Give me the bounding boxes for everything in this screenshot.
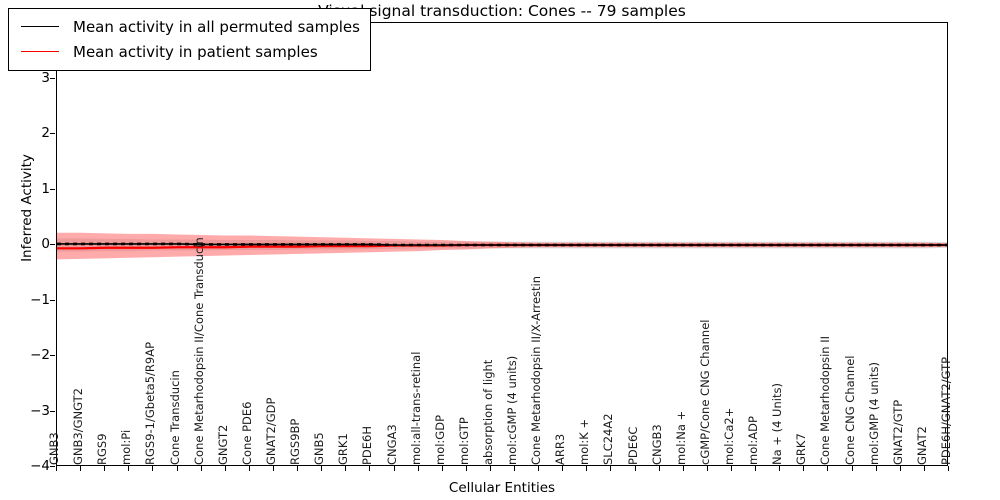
- y-tick-mark: [50, 466, 55, 467]
- legend-entry: Mean activity in patient samples: [17, 39, 360, 64]
- x-tick-mark: [827, 466, 828, 471]
- y-tick-label: 3: [4, 70, 50, 86]
- x-tick-mark: [779, 466, 780, 471]
- x-tick-mark: [369, 466, 370, 471]
- y-tick-mark: [50, 300, 55, 301]
- y-tick-mark: [50, 189, 55, 190]
- y-tick-mark: [50, 244, 55, 245]
- x-tick-mark: [104, 466, 105, 471]
- series-confidence-band: [57, 233, 948, 260]
- plot-area: [56, 22, 948, 466]
- y-tick-mark: [50, 411, 55, 412]
- x-tick-mark: [273, 466, 274, 471]
- chart-legend: Mean activity in all permuted samples Me…: [8, 8, 371, 71]
- x-tick-mark: [514, 466, 515, 471]
- x-tick-mark: [177, 466, 178, 471]
- y-tick-label: 0: [4, 236, 50, 252]
- y-tick-label: 1: [4, 181, 50, 197]
- x-tick-mark: [755, 466, 756, 471]
- x-tick-mark: [876, 466, 877, 471]
- x-axis-label: Cellular Entities: [56, 480, 948, 496]
- legend-label-patient: Mean activity in patient samples: [73, 43, 318, 61]
- x-tick-mark: [683, 466, 684, 471]
- x-tick-mark: [442, 466, 443, 471]
- y-tick-label: 2: [4, 125, 50, 141]
- x-tick-mark: [538, 466, 539, 471]
- chart-figure: Visual signal transduction: Cones -- 79 …: [0, 0, 1000, 500]
- x-tick-mark: [731, 466, 732, 471]
- legend-swatch-permuted: [21, 26, 59, 27]
- x-tick-mark: [635, 466, 636, 471]
- x-tick-mark: [345, 466, 346, 471]
- x-tick-mark: [610, 466, 611, 471]
- y-tick-mark: [50, 78, 55, 79]
- x-tick-mark: [249, 466, 250, 471]
- x-tick-mark: [297, 466, 298, 471]
- x-tick-mark: [490, 466, 491, 471]
- x-tick-mark: [152, 466, 153, 471]
- x-tick-mark: [852, 466, 853, 471]
- data-series-layer: [57, 23, 948, 466]
- y-tick-label: −1: [4, 292, 50, 308]
- x-tick-mark: [225, 466, 226, 471]
- x-tick-mark: [900, 466, 901, 471]
- y-tick-mark: [50, 355, 55, 356]
- x-tick-mark: [659, 466, 660, 471]
- x-tick-mark: [586, 466, 587, 471]
- legend-label-permuted: Mean activity in all permuted samples: [73, 18, 360, 36]
- y-tick-label: −4: [4, 458, 50, 474]
- legend-entry: Mean activity in all permuted samples: [17, 14, 360, 39]
- y-axis-ticks: −4−3−2−101234: [0, 22, 50, 466]
- x-tick-mark: [418, 466, 419, 471]
- y-tick-label: −3: [4, 403, 50, 419]
- legend-swatch-patient: [21, 51, 59, 52]
- x-tick-mark: [394, 466, 395, 471]
- x-tick-mark: [948, 466, 949, 471]
- x-tick-mark: [707, 466, 708, 471]
- y-tick-label: −2: [4, 347, 50, 363]
- x-tick-mark: [56, 466, 57, 471]
- x-tick-mark: [128, 466, 129, 471]
- x-tick-mark: [321, 466, 322, 471]
- y-tick-mark: [50, 133, 55, 134]
- x-tick-mark: [80, 466, 81, 471]
- x-tick-mark: [466, 466, 467, 471]
- x-tick-mark: [924, 466, 925, 471]
- x-tick-mark: [803, 466, 804, 471]
- x-tick-mark: [201, 466, 202, 471]
- x-tick-mark: [562, 466, 563, 471]
